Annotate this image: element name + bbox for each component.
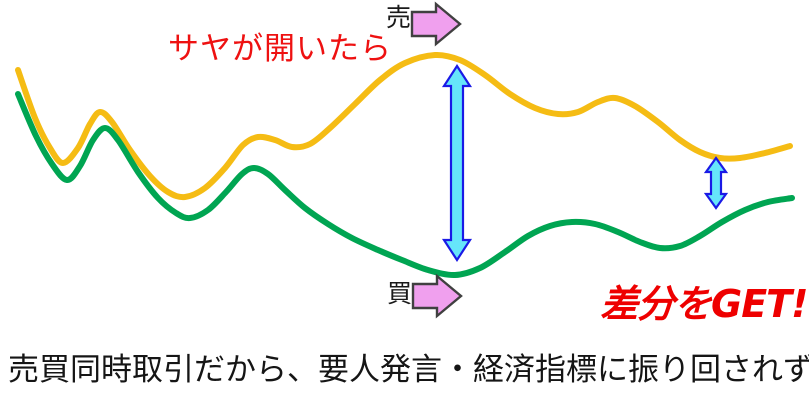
double-arrow-vertical-icon-wide (444, 66, 470, 260)
figure-caption: 売買同時取引だから、要人発言・経済指標に振り回されず安心 (8, 355, 809, 386)
series-line-sell (18, 55, 790, 197)
price-spread-chart (0, 0, 809, 406)
label-buy-kanji: 買 (387, 281, 412, 306)
right-arrow-icon-buy (413, 276, 461, 316)
series-line-buy (18, 94, 792, 275)
spread-trading-illustration: サヤが開いたら 売 買 差分をGET! 売買同時取引だから、要人発言・経済指標に… (0, 0, 809, 406)
double-arrow-vertical-icon-narrow (706, 158, 726, 208)
right-arrow-icon-sell (412, 4, 460, 44)
label-sell-kanji: 売 (386, 5, 411, 30)
label-profit-get: 差分をGET! (600, 285, 807, 323)
annotation-spread-widens: サヤが開いたら (168, 34, 392, 65)
